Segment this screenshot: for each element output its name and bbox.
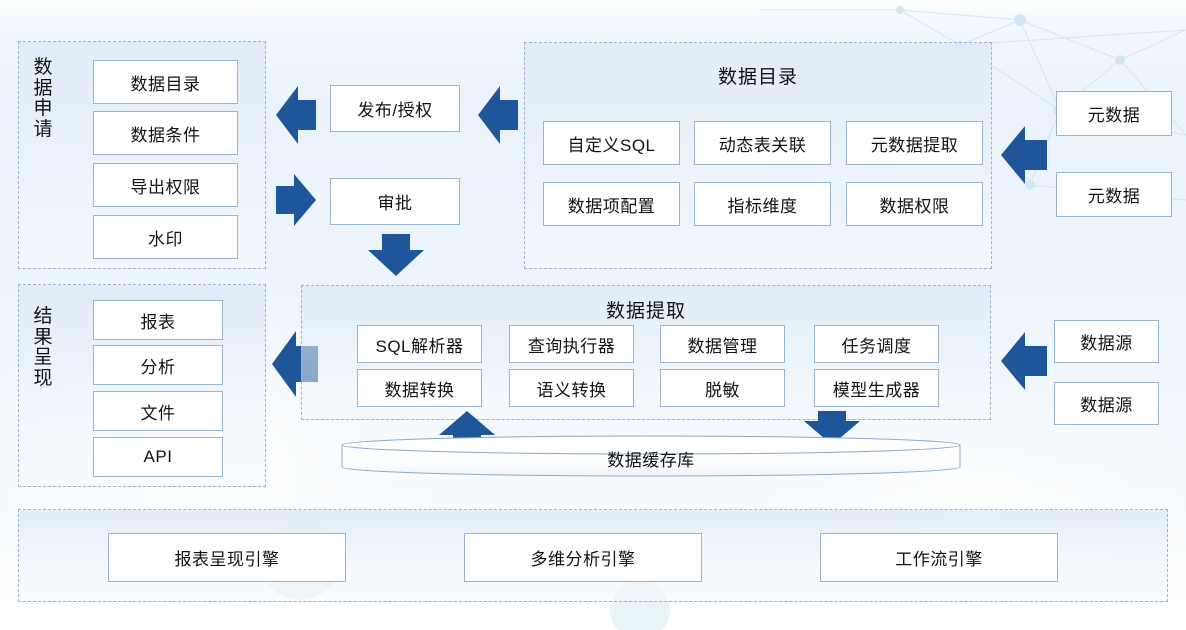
result-presentation-item-1[interactable]: 分析 [93,345,223,385]
arrow-metadata-to-catalog-icon [1001,124,1047,186]
metadata-source-1[interactable]: 元数据 [1056,172,1172,217]
metadata-source-0[interactable]: 元数据 [1056,91,1172,136]
data-extraction-item-4[interactable]: 数据转换 [357,369,482,407]
data-extraction-item-7[interactable]: 模型生成器 [814,369,939,407]
data-cache-cylinder[interactable]: 数据缓存库 [341,435,961,477]
publish-authorize-box[interactable]: 发布/授权 [330,85,460,132]
data-catalog-item-5[interactable]: 数据权限 [846,182,983,226]
data-extraction-title: 数据提取 [301,296,991,323]
data-application-label: 数据申请 [30,58,56,140]
result-presentation-item-0[interactable]: 报表 [93,300,223,340]
data-catalog-item-2[interactable]: 元数据提取 [846,121,983,165]
data-extraction-item-5[interactable]: 语义转换 [509,369,634,407]
result-presentation-item-2[interactable]: 文件 [93,391,223,431]
arrow-publish-to-application-icon [276,84,316,146]
engine-item-2[interactable]: 工作流引擎 [820,533,1058,582]
data-extraction-item-0[interactable]: SQL解析器 [357,325,482,363]
data-catalog-item-3[interactable]: 数据项配置 [543,182,680,226]
engine-item-1[interactable]: 多维分析引擎 [464,533,702,582]
data-extraction-item-2[interactable]: 数据管理 [660,325,785,363]
approval-box[interactable]: 审批 [330,178,460,225]
data-catalog-item-4[interactable]: 指标维度 [694,182,831,226]
data-extraction-item-1[interactable]: 查询执行器 [509,325,634,363]
arrow-datasource-to-extraction-icon [1001,330,1047,392]
data-source-0[interactable]: 数据源 [1054,320,1159,363]
data-application-item-1[interactable]: 数据条件 [93,111,238,155]
arrow-approval-to-extraction-icon [366,234,426,276]
data-cache-label: 数据缓存库 [341,446,961,471]
result-presentation-label: 结果呈现 [30,307,56,389]
result-presentation-item-3[interactable]: API [93,437,223,477]
engine-item-0[interactable]: 报表呈现引擎 [108,533,346,582]
data-application-item-2[interactable]: 导出权限 [93,163,238,207]
arrow-catalog-to-publish-icon [478,84,518,146]
architecture-diagram: 数据申请 数据目录 数据条件 导出权限 水印 发布/授权 审批 数据目录 自定义… [0,0,1186,630]
data-source-1[interactable]: 数据源 [1054,382,1159,425]
data-catalog-item-1[interactable]: 动态表关联 [694,121,831,165]
data-application-item-3[interactable]: 水印 [93,215,238,259]
data-catalog-title: 数据目录 [524,62,992,89]
data-application-item-0[interactable]: 数据目录 [93,60,238,104]
data-extraction-item-6[interactable]: 脱敏 [660,369,785,407]
arrow-application-to-approval-icon [276,172,316,228]
data-extraction-item-3[interactable]: 任务调度 [814,325,939,363]
data-catalog-item-0[interactable]: 自定义SQL [543,121,680,165]
